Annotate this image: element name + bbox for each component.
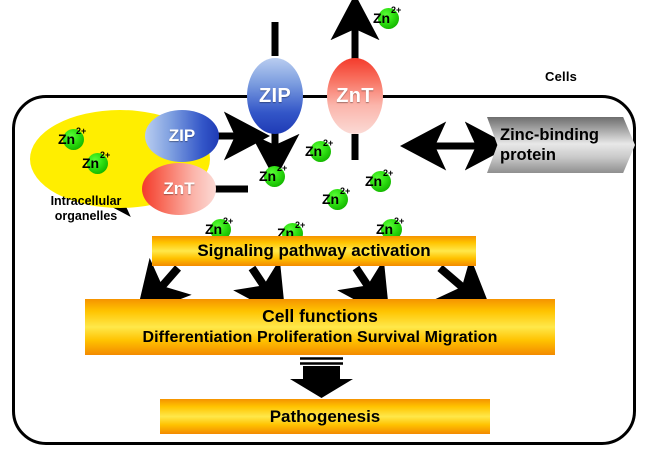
zinc-ion: Zn2+ — [259, 163, 289, 189]
zinc-ion: Zn2+ — [82, 150, 112, 176]
zinc-ion-symbol: Zn — [205, 221, 222, 237]
zinc-ion-symbol: Zn — [305, 143, 322, 159]
zinc-ion: Zn2+ — [305, 138, 335, 164]
zinc-ion-charge: 2+ — [223, 216, 233, 226]
cell-functions-title: Cell functions — [262, 305, 378, 327]
zinc-ion: Zn2+ — [58, 126, 88, 152]
zinc-ion-symbol: Zn — [365, 173, 382, 189]
zinc-ion-charge: 2+ — [323, 138, 333, 148]
pathogenesis-box[interactable]: Pathogenesis — [160, 399, 490, 434]
zinc-ion-symbol: Zn — [82, 155, 99, 171]
signaling-pathway-box[interactable]: Signaling pathway activation — [152, 236, 476, 266]
zinc-signaling-diagram: Cells — [0, 0, 650, 461]
zinc-ion-charge: 2+ — [340, 186, 350, 196]
signaling-pathway-label: Signaling pathway activation — [197, 241, 430, 261]
zinc-ion-symbol: Zn — [373, 10, 390, 26]
zinc-ion-symbol: Zn — [58, 131, 75, 147]
cell-functions-items: Differentiation Proliferation Survival M… — [142, 327, 497, 349]
zinc-ion-charge: 2+ — [76, 126, 86, 136]
cell-functions-box[interactable]: Cell functions Differentiation Prolifera… — [85, 299, 555, 355]
zinc-ion-symbol: Zn — [259, 168, 276, 184]
pathogenesis-label: Pathogenesis — [270, 407, 381, 427]
zinc-ion: Zn2+ — [322, 186, 352, 212]
zinc-ion: Zn2+ — [365, 168, 395, 194]
zinc-ion-charge: 2+ — [391, 5, 401, 15]
zinc-ion-symbol: Zn — [376, 221, 393, 237]
zinc-ion-charge: 2+ — [383, 168, 393, 178]
zinc-ion-symbol: Zn — [322, 191, 339, 207]
zinc-ion-layer: Zn2+Zn2+Zn2+Zn2+Zn2+Zn2+Zn2+Zn2+Zn2+Zn2+ — [0, 0, 650, 461]
zinc-ion-charge: 2+ — [295, 220, 305, 230]
zinc-ion-charge: 2+ — [394, 216, 404, 226]
zinc-ion-charge: 2+ — [277, 163, 287, 173]
zinc-ion-charge: 2+ — [100, 150, 110, 160]
zinc-ion: Zn2+ — [373, 5, 403, 31]
